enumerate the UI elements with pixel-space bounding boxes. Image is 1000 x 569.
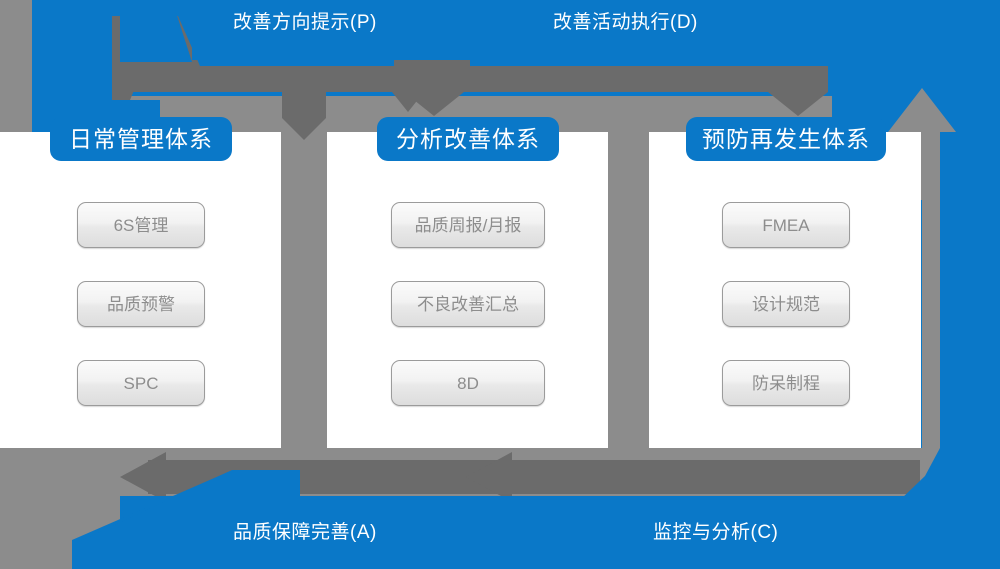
item-defect-improvement-summary[interactable]: 不良改善汇总 bbox=[391, 281, 545, 327]
column-title-3[interactable]: 预防再发生体系 bbox=[686, 117, 886, 161]
column-title-1[interactable]: 日常管理体系 bbox=[50, 117, 232, 161]
gap-stem-right bbox=[608, 96, 649, 470]
caption-bottom-right: 监控与分析(C) bbox=[653, 517, 778, 544]
caption-top-left: 改善方向提示(P) bbox=[233, 7, 377, 34]
gap-stem-left bbox=[281, 96, 327, 470]
item-quality-alert[interactable]: 品质预警 bbox=[77, 281, 205, 327]
item-quality-weekly-monthly-report[interactable]: 品质周报/月报 bbox=[391, 202, 545, 248]
top-notch-c bbox=[486, 60, 1000, 66]
item-8d[interactable]: 8D bbox=[391, 360, 545, 406]
item-6s-management[interactable]: 6S管理 bbox=[77, 202, 205, 248]
caption-top-right: 改善活动执行(D) bbox=[553, 7, 698, 34]
top-notch-a bbox=[120, 0, 192, 62]
caption-bottom-left: 品质保障完善(A) bbox=[233, 517, 377, 544]
item-spc[interactable]: SPC bbox=[77, 360, 205, 406]
item-mistake-proofing-process[interactable]: 防呆制程 bbox=[722, 360, 850, 406]
diagram-canvas: 改善方向提示(P) 改善活动执行(D) 品质保障完善(A) 监控与分析(C) 日… bbox=[0, 0, 1000, 569]
item-design-specification[interactable]: 设计规范 bbox=[722, 281, 850, 327]
column-title-2[interactable]: 分析改善体系 bbox=[377, 117, 559, 161]
item-fmea[interactable]: FMEA bbox=[722, 202, 850, 248]
